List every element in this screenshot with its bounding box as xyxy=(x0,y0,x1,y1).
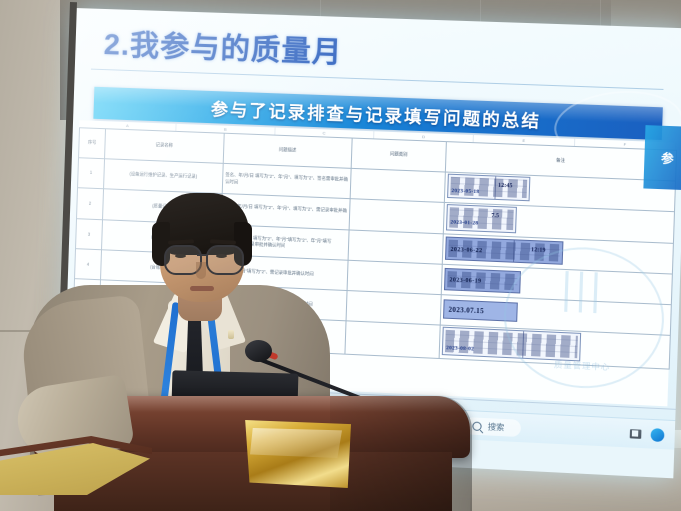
scan-date: 2023-05-18 xyxy=(451,188,479,197)
edge-icon[interactable] xyxy=(650,428,664,442)
cell-desc: 签名、记录填写内容缺失、需补充完整并确认时间 xyxy=(217,315,346,354)
cell-no: 5 xyxy=(74,279,101,310)
handwritten-record-scan: 7.5 2023-01-28 xyxy=(446,204,517,233)
cell-type xyxy=(346,291,441,326)
scan-date: 2023.07.15 xyxy=(448,305,484,317)
scan-value: 7.5 xyxy=(491,212,499,221)
cell-type xyxy=(347,260,442,294)
scan-value: 12:45 xyxy=(498,182,513,191)
scan-date: 2023-06-22 xyxy=(450,246,482,256)
scan-date: 2023-08-02 xyxy=(446,345,474,354)
title-divider xyxy=(91,69,664,90)
cell-no: 1 xyxy=(78,158,105,189)
search-icon xyxy=(472,421,482,431)
header-cell-no: 序号 xyxy=(79,128,106,159)
microphone-head xyxy=(245,340,272,362)
cell-type xyxy=(350,168,445,202)
cell-name: (设备运行维护记录、生产运行记录) xyxy=(104,159,224,194)
header-cell-desc: 问题描述 xyxy=(223,133,352,168)
header-cell-name: 记录名称 xyxy=(105,129,225,164)
cell-name: (质量记录) xyxy=(103,189,223,225)
file-explorer-icon[interactable] xyxy=(630,429,642,439)
cell-type xyxy=(348,230,443,264)
slide-title: 2.我参与的质量月 xyxy=(103,21,343,71)
handwritten-record-scan: 12:45 2023-05-18 xyxy=(447,174,530,202)
cell-type xyxy=(345,321,440,359)
header-cell-type: 问题类别 xyxy=(351,138,446,172)
cell-no: 4 xyxy=(75,249,102,280)
podium-plaque-highlight xyxy=(250,428,342,458)
presentation-photo-scene: 2.我参与的质量月 参与了记录排查与记录填写问题的总结 A B C D E F xyxy=(0,0,681,511)
cell-name: (交接班记录) xyxy=(98,310,218,349)
powerpoint-slide: 2.我参与的质量月 参与了记录排查与记录填写问题的总结 A B C D E F xyxy=(61,8,681,450)
search-placeholder-text: 搜索 xyxy=(488,421,505,433)
podium-shadow xyxy=(330,396,472,511)
cell-no: 6 xyxy=(72,309,99,343)
scan-value: 12:19 xyxy=(531,246,546,255)
taskbar-tray xyxy=(629,419,664,449)
taskbar-search-box[interactable]: 搜索 xyxy=(464,417,521,437)
cell-no: 2 xyxy=(77,188,104,220)
cell-type xyxy=(349,199,444,234)
cell-no: 3 xyxy=(76,219,103,250)
scan-date: 2023-01-28 xyxy=(450,220,478,229)
scan-date: 2023-06-19 xyxy=(449,276,481,286)
cell-desc: 签名、年/月/日 填写为"2"、年"月"、填写为"2"、需记录审批并确认时间 xyxy=(221,194,350,231)
